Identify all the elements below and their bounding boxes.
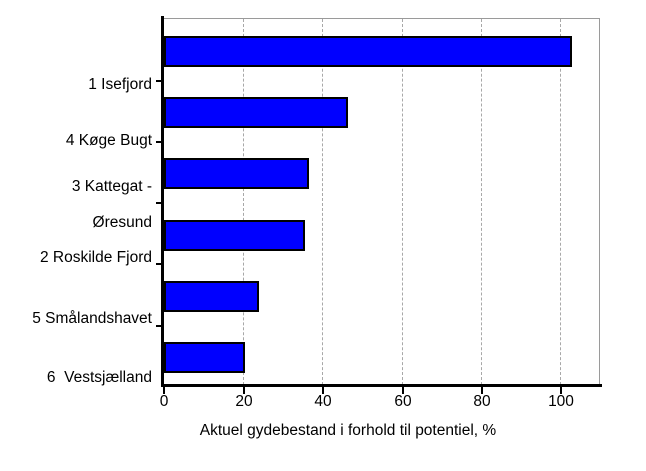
gridline-80 bbox=[481, 19, 482, 385]
y-axis-label-text: 6 Vestsjælland bbox=[47, 369, 152, 386]
gridline-100 bbox=[560, 19, 561, 385]
x-axis-line bbox=[161, 384, 602, 387]
y-axis-label-isefjord: 1 Isefjord bbox=[0, 58, 152, 112]
y-axis-label-text-line1: 3 Kattegat - bbox=[72, 178, 152, 195]
bar-roskilde-fjord bbox=[164, 220, 305, 251]
y-axis-label-text: 1 Isefjord bbox=[88, 76, 152, 93]
bar-smalandshavet bbox=[164, 281, 259, 312]
bar-isefjord bbox=[164, 36, 572, 67]
x-axis-ticklabel-60: 60 bbox=[373, 393, 433, 411]
y-axis-line bbox=[161, 16, 164, 387]
gridline-60 bbox=[402, 19, 403, 385]
x-axis-ticklabel-20: 20 bbox=[214, 393, 274, 411]
x-axis-title: Aktuel gydebestand i forhold til potenti… bbox=[0, 422, 646, 440]
bar-vestsjaelland bbox=[164, 342, 245, 373]
x-axis-ticklabel-40: 40 bbox=[293, 393, 353, 411]
x-axis-ticklabel-100: 100 bbox=[531, 393, 591, 411]
y-axis-label-roskilde-fjord: 2 Roskilde Fjord bbox=[0, 231, 152, 285]
y-axis-label-text: 5 Smålandshavet bbox=[32, 310, 152, 327]
bar-kattegat-oresund bbox=[164, 158, 309, 189]
y-axis-category-labels: 1 Isefjord 4 Køge Bugt 3 Kattegat - Øres… bbox=[0, 18, 158, 385]
y-axis-label-text-line2: Øresund bbox=[0, 214, 152, 232]
y-axis-label-vestsjaelland: 6 Vestsjælland bbox=[0, 351, 152, 405]
x-axis-ticklabel-80: 80 bbox=[452, 393, 512, 411]
y-axis-label-text: 2 Roskilde Fjord bbox=[40, 249, 152, 266]
bar-chart: 1 Isefjord 4 Køge Bugt 3 Kattegat - Øres… bbox=[0, 0, 646, 471]
bar-koge-bugt bbox=[164, 97, 348, 128]
x-axis-title-text: Aktuel gydebestand i forhold til potenti… bbox=[200, 422, 496, 440]
y-axis-label-smalandshavet: 5 Smålandshavet bbox=[0, 292, 152, 346]
plot-area bbox=[164, 18, 600, 385]
x-axis-ticklabel-0: 0 bbox=[134, 393, 194, 411]
y-axis-label-text: 4 Køge Bugt bbox=[66, 132, 152, 149]
gridline-40 bbox=[322, 19, 323, 385]
gridline-20 bbox=[243, 19, 244, 385]
